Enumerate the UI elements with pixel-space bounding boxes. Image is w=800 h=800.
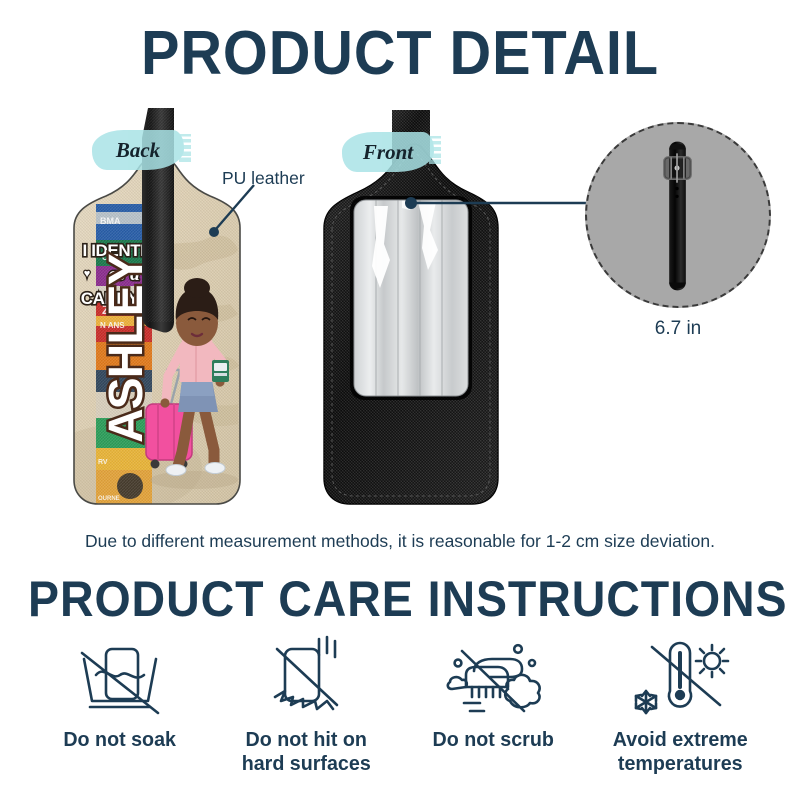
page-title: PRODUCT DETAIL: [28, 22, 772, 86]
care-label-no-soak: Do not soak: [64, 728, 177, 752]
care-item-no-impact: Do not hit on hard surfaces: [217, 632, 397, 776]
strap-detail-circle: [585, 122, 771, 308]
tag-side-label-back-text: Back: [116, 138, 160, 163]
callout-pu-leather-leader: [196, 183, 266, 245]
care-item-no-soak: Do not soak: [30, 632, 210, 752]
tag-side-label-back: Back: [92, 130, 184, 170]
no-scrub-icon: [438, 632, 548, 724]
product-detail-infographic: PRODUCT DETAIL: [0, 0, 800, 800]
no-temperature-icon: [628, 632, 732, 724]
tag-side-label-front: Front: [342, 132, 434, 172]
strap-closeup-illustration: [587, 124, 769, 306]
tag-side-label-front-text: Front: [363, 140, 413, 165]
no-soak-icon: [70, 632, 170, 724]
detail-circle-leader: [404, 190, 604, 216]
care-label-no-scrub: Do not scrub: [433, 728, 554, 752]
strap-size-label: 6.7 in: [585, 318, 771, 340]
care-item-no-scrub: Do not scrub: [403, 632, 583, 752]
care-label-no-temperature: Avoid extreme temperatures: [613, 728, 748, 776]
no-impact-icon: [257, 632, 357, 724]
care-item-no-temperature: Avoid extreme temperatures: [590, 632, 770, 776]
care-label-no-impact: Do not hit on hard surfaces: [242, 728, 371, 776]
care-instructions-row: Do not soak Do not hit on hard surfaces: [30, 632, 770, 792]
tag-design-heart-left: ♥: [84, 268, 91, 280]
care-instructions-title: PRODUCT CARE INSTRUCTIONS: [28, 572, 772, 626]
measurement-deviation-note: Due to different measurement methods, it…: [0, 531, 800, 552]
